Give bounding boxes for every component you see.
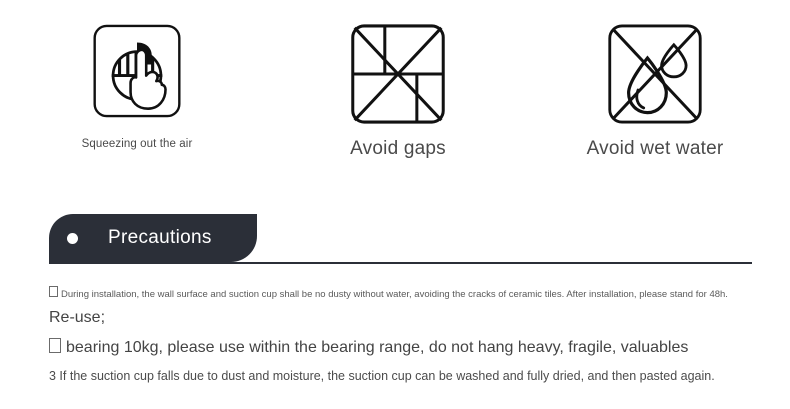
- instruction-item-avoid-gaps: Avoid gaps: [283, 22, 513, 160]
- icon-caption: Avoid wet water: [587, 138, 724, 160]
- precautions-banner-section: Precautions: [0, 214, 790, 266]
- precautions-title: Precautions: [108, 227, 212, 249]
- crossed-square-gaps-icon: [349, 22, 447, 126]
- icon-caption: Squeezing out the air: [82, 138, 193, 150]
- icon-caption: Avoid gaps: [350, 138, 446, 160]
- precaution-line-1: During installation, the wall surface an…: [49, 286, 759, 303]
- instruction-item-squeeze-air: Squeezing out the air: [22, 22, 252, 150]
- precaution-line-1-text: During installation, the wall surface an…: [61, 289, 728, 300]
- section-divider: [49, 262, 752, 264]
- tofu-box-glyph-icon: [49, 286, 58, 297]
- precaution-line-4: 3 If the suction cup falls due to dust a…: [49, 363, 759, 389]
- hand-pressing-suction-cup-icon: [91, 22, 183, 120]
- no-water-droplet-icon: [606, 22, 704, 126]
- precaution-line-3-text: bearing 10kg, please use within the bear…: [66, 339, 688, 356]
- precaution-line-3: bearing 10kg, please use within the bear…: [49, 333, 759, 363]
- precautions-banner: Precautions: [49, 214, 257, 262]
- precaution-reuse-heading: Re-use;: [49, 303, 759, 333]
- instruction-item-avoid-wet-water: Avoid wet water: [540, 22, 770, 160]
- tofu-box-glyph-icon: [49, 338, 61, 353]
- instruction-icon-row: Squeezing out the air Avoid gaps: [0, 0, 790, 185]
- precautions-body: During installation, the wall surface an…: [49, 286, 759, 389]
- dot-marker-icon: [67, 233, 78, 244]
